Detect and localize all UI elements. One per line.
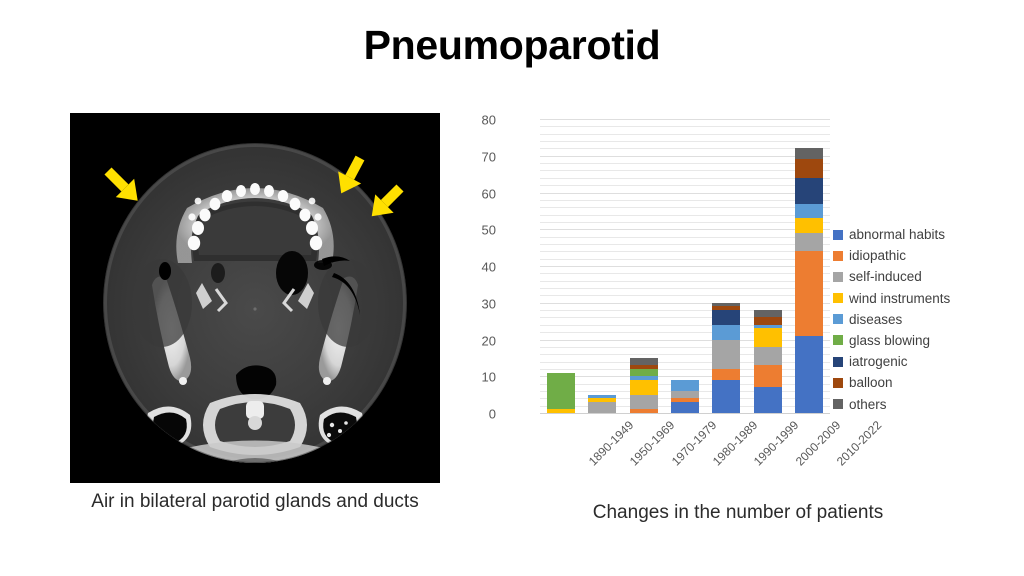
legend-label: balloon — [849, 375, 893, 390]
chart-figure-panel: 01020304050607080 1890-19491950-19691970… — [488, 112, 988, 487]
bar-segment-wind-instruments[interactable] — [795, 218, 823, 233]
gridline-minor — [540, 281, 830, 282]
bar-segment-idiopathic[interactable] — [795, 251, 823, 336]
bar-segment-abnormal-habits[interactable] — [795, 336, 823, 413]
gridline-minor — [540, 347, 830, 348]
legend-swatch-icon — [833, 272, 843, 282]
gridline-minor — [540, 325, 830, 326]
legend-swatch-icon — [833, 293, 843, 303]
legend-label: glass blowing — [849, 333, 930, 348]
y-axis-tick-label: 10 — [450, 370, 496, 385]
gridline-minor — [540, 273, 830, 274]
ct-figure-panel: Air in bilateral parotid glands and duct… — [70, 113, 440, 483]
bar-segment-abnormal-habits[interactable] — [712, 380, 740, 413]
gridline-major — [540, 119, 830, 120]
bar-segment-diseases[interactable] — [671, 380, 699, 391]
gridline-minor — [540, 259, 830, 260]
gridline-major — [540, 156, 830, 157]
legend-swatch-icon — [833, 251, 843, 261]
legend-label: wind instruments — [849, 291, 950, 306]
x-axis-line — [540, 413, 830, 414]
gridline-major — [540, 303, 830, 304]
legend-item[interactable]: diseases — [833, 312, 988, 327]
stacked-bar-chart: 01020304050607080 1890-19491950-19691970… — [488, 112, 848, 432]
bar-segment-idiopathic[interactable] — [754, 365, 782, 387]
gridline-minor — [540, 200, 830, 201]
chart-figure-caption: Changes in the number of patients — [518, 502, 958, 524]
y-axis-tick-label: 60 — [450, 186, 496, 201]
bar-2010-2022[interactable] — [795, 148, 823, 413]
legend-label: self-induced — [849, 269, 922, 284]
legend-item[interactable]: self-induced — [833, 269, 988, 284]
legend-item[interactable]: wind instruments — [833, 291, 988, 306]
gridline-minor — [540, 251, 830, 252]
legend-label: others — [849, 397, 887, 412]
legend-item[interactable]: balloon — [833, 375, 988, 390]
bar-segment-abnormal-habits[interactable] — [754, 387, 782, 413]
y-axis-tick-label: 20 — [450, 333, 496, 348]
bar-segment-others[interactable] — [754, 310, 782, 317]
bar-1890-1949[interactable] — [547, 373, 575, 413]
axial-ct-image — [70, 113, 440, 483]
gridline-minor — [540, 207, 830, 208]
bar-segment-self-induced[interactable] — [671, 391, 699, 398]
gridline-minor — [540, 178, 830, 179]
legend-swatch-icon — [833, 357, 843, 367]
legend-swatch-icon — [833, 399, 843, 409]
bar-segment-diseases[interactable] — [712, 325, 740, 340]
gridline-minor — [540, 362, 830, 363]
bar-segment-wind-instruments[interactable] — [754, 328, 782, 346]
legend-item[interactable]: glass blowing — [833, 333, 988, 348]
legend-label: abnormal habits — [849, 227, 945, 242]
gridline-minor — [540, 215, 830, 216]
bar-segment-wind-instruments[interactable] — [630, 380, 658, 395]
gridline-minor — [540, 369, 830, 370]
chart-legend: abnormal habitsidiopathicself-inducedwin… — [833, 227, 988, 418]
gridline-minor — [540, 317, 830, 318]
gridline-minor — [540, 141, 830, 142]
plot-area — [540, 120, 830, 414]
legend-label: diseases — [849, 312, 902, 327]
bar-segment-iatrogenic[interactable] — [712, 310, 740, 325]
y-axis-tick-label: 30 — [450, 296, 496, 311]
gridline-minor — [540, 163, 830, 164]
legend-item[interactable]: idiopathic — [833, 248, 988, 263]
legend-swatch-icon — [833, 335, 843, 345]
bar-2000-2009[interactable] — [754, 310, 782, 413]
bar-1980-1989[interactable] — [671, 380, 699, 413]
gridline-major — [540, 376, 830, 377]
gridline-minor — [540, 185, 830, 186]
gridline-minor — [540, 288, 830, 289]
bar-1950-1969[interactable] — [588, 395, 616, 413]
page-title: Pneumoparotid — [0, 22, 1024, 69]
gridline-major — [540, 193, 830, 194]
bar-segment-iatrogenic[interactable] — [795, 178, 823, 204]
bar-segment-self-induced[interactable] — [795, 233, 823, 251]
y-axis-tick-label: 70 — [450, 149, 496, 164]
gridline-minor — [540, 237, 830, 238]
gridline-minor — [540, 354, 830, 355]
gridline-minor — [540, 295, 830, 296]
legend-swatch-icon — [833, 230, 843, 240]
gridline-major — [540, 340, 830, 341]
bar-segment-self-induced[interactable] — [630, 395, 658, 410]
bar-segment-self-induced[interactable] — [712, 340, 740, 369]
legend-item[interactable]: iatrogenic — [833, 354, 988, 369]
bar-1970-1979[interactable] — [630, 358, 658, 413]
bar-segment-diseases[interactable] — [795, 204, 823, 219]
legend-item[interactable]: others — [833, 397, 988, 412]
gridline-major — [540, 229, 830, 230]
bar-1990-1999[interactable] — [712, 303, 740, 413]
bar-segment-self-induced[interactable] — [588, 402, 616, 413]
bar-segment-idiopathic[interactable] — [712, 369, 740, 380]
ct-figure-caption: Air in bilateral parotid glands and duct… — [50, 491, 460, 513]
gridline-minor — [540, 332, 830, 333]
legend-swatch-icon — [833, 378, 843, 388]
gridline-minor — [540, 222, 830, 223]
y-axis-tick-label: 0 — [450, 407, 496, 422]
gridline-minor — [540, 244, 830, 245]
bar-segment-others[interactable] — [795, 148, 823, 159]
bar-segment-balloon[interactable] — [754, 317, 782, 324]
y-axis-tick-label: 80 — [450, 113, 496, 128]
gridline-minor — [540, 170, 830, 171]
legend-label: iatrogenic — [849, 354, 908, 369]
bar-segment-self-induced[interactable] — [754, 347, 782, 365]
bar-segment-glass-blowing[interactable] — [630, 369, 658, 376]
bar-segment-glass-blowing[interactable] — [547, 373, 575, 410]
bar-segment-balloon[interactable] — [795, 159, 823, 177]
bar-segment-others[interactable] — [630, 358, 658, 365]
gridline-minor — [540, 126, 830, 127]
y-axis-tick-label: 50 — [450, 223, 496, 238]
y-axis-tick-label: 40 — [450, 260, 496, 275]
gridline-major — [540, 266, 830, 267]
legend-item[interactable]: abnormal habits — [833, 227, 988, 242]
legend-label: idiopathic — [849, 248, 906, 263]
legend-swatch-icon — [833, 314, 843, 324]
bar-segment-abnormal-habits[interactable] — [671, 402, 699, 413]
gridline-minor — [540, 310, 830, 311]
gridline-minor — [540, 134, 830, 135]
gridline-minor — [540, 148, 830, 149]
